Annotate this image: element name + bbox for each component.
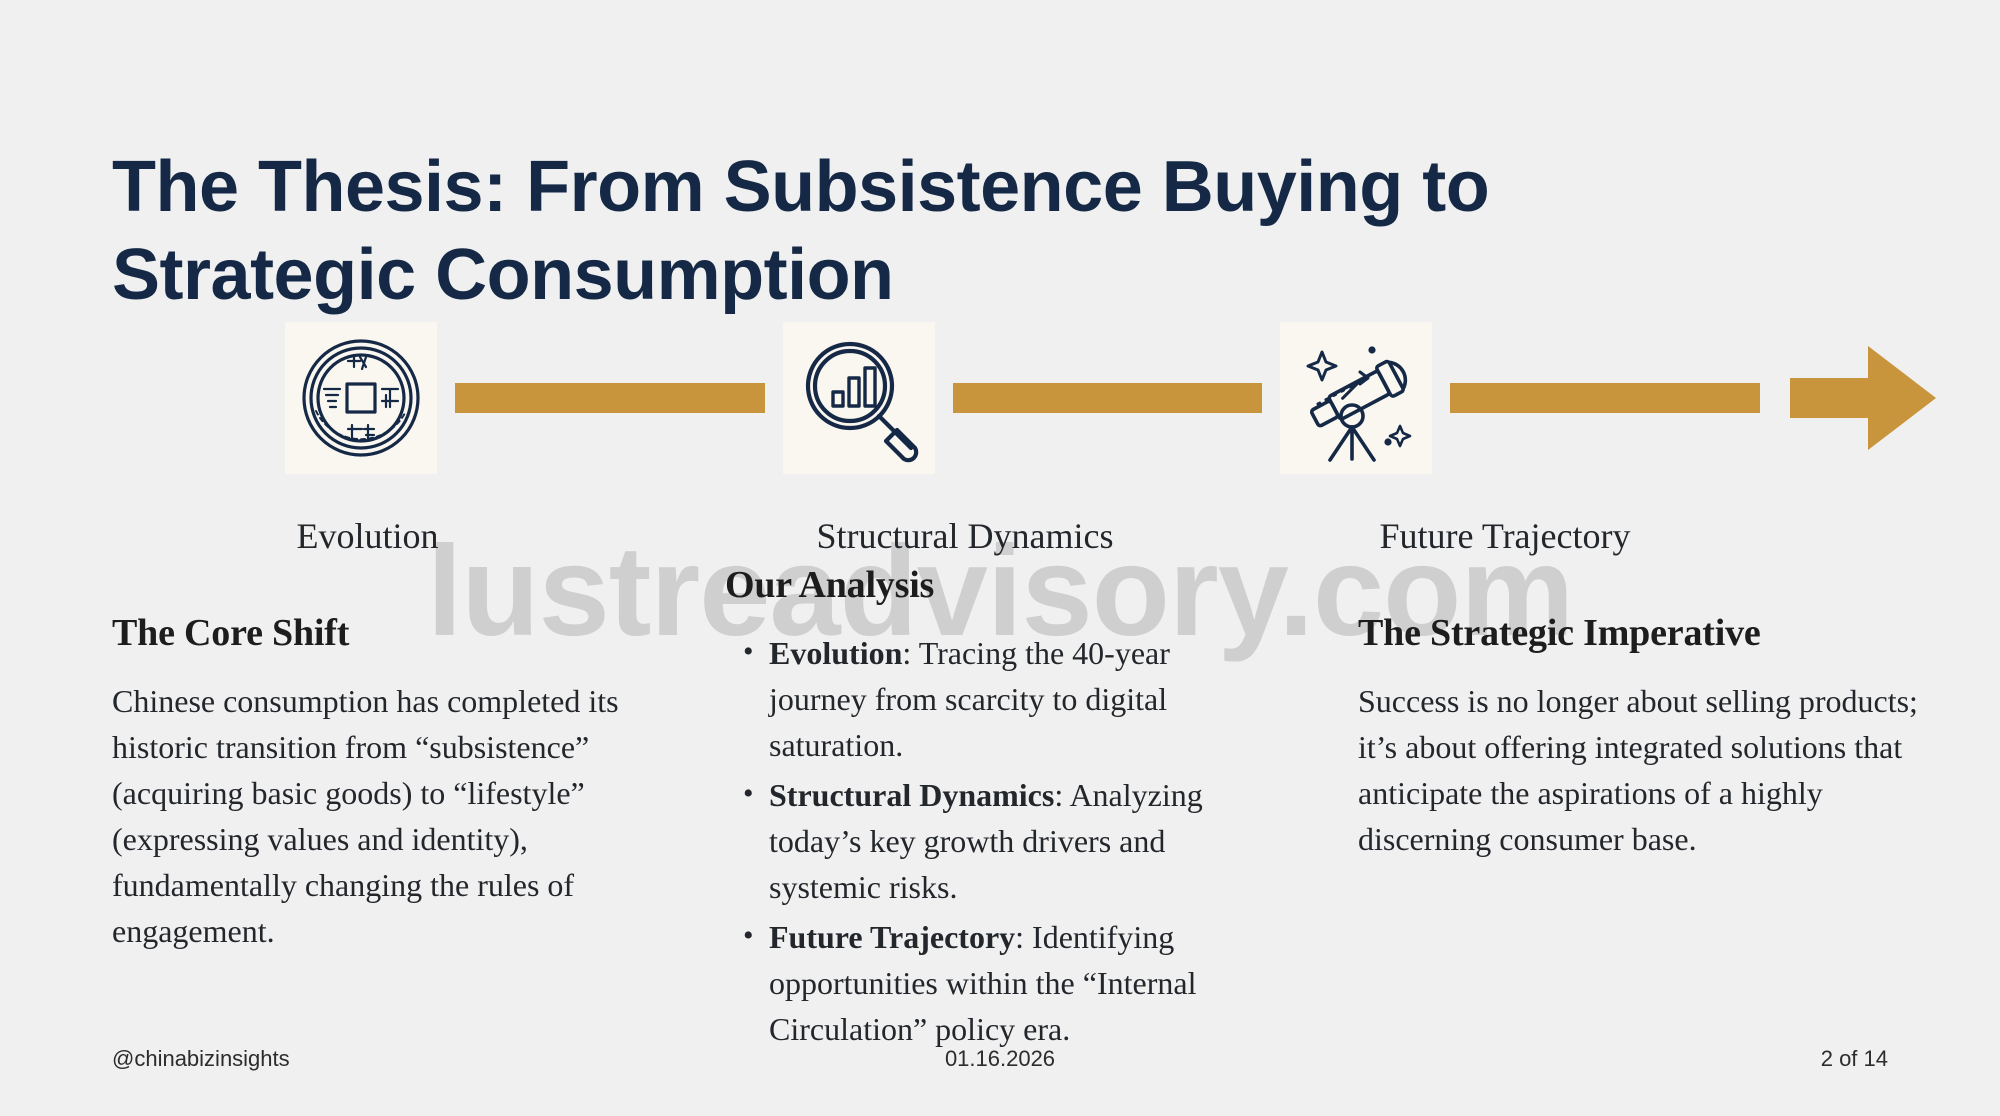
step-label-structural-dynamics: Structural Dynamics <box>735 515 1195 557</box>
slide-canvas: lustreadvisory.com The Thesis: From Subs… <box>0 0 2000 1116</box>
column-body-core-shift: Chinese consumption has completed its hi… <box>112 678 657 954</box>
connector-bar-2 <box>953 383 1263 413</box>
connector-bar-1 <box>455 383 765 413</box>
slide-footer: @chinabizinsights 01.16.2026 2 of 14 <box>0 1046 2000 1080</box>
list-item: Future Trajectory: Identifying opportuni… <box>769 914 1270 1052</box>
analysis-bullet-list: Evolution: Tracing the 40-year journey f… <box>725 630 1270 1053</box>
step-label-evolution: Evolution <box>0 515 735 557</box>
column-body-strategic-imperative: Success is no longer about selling produ… <box>1358 678 1928 862</box>
step-label-future-trajectory: Future Trajectory <box>1195 515 1815 557</box>
process-flow <box>0 318 2000 478</box>
telescope-icon <box>1280 322 1432 474</box>
bullet-lead: Evolution <box>769 635 902 671</box>
column-core-shift: The Core Shift Chinese consumption has c… <box>112 612 657 954</box>
list-item: Structural Dynamics: Analyzing today’s k… <box>769 772 1270 910</box>
column-heading-core-shift: The Core Shift <box>112 612 657 656</box>
arrow-right-icon <box>1790 338 1940 458</box>
column-strategic-imperative: The Strategic Imperative Success is no l… <box>1358 612 1928 862</box>
page-title: The Thesis: From Subsistence Buying to S… <box>112 144 1812 320</box>
footer-date: 01.16.2026 <box>0 1046 2000 1072</box>
footer-page-number: 2 of 14 <box>1821 1046 1888 1072</box>
list-item: Evolution: Tracing the 40-year journey f… <box>769 630 1270 768</box>
bullet-lead: Structural Dynamics <box>769 777 1054 813</box>
column-our-analysis: Our Analysis Evolution: Tracing the 40-y… <box>725 564 1270 1056</box>
magnifier-bar-chart-icon <box>783 322 935 474</box>
connector-bar-3 <box>1450 383 1760 413</box>
column-heading-strategic-imperative: The Strategic Imperative <box>1358 612 1928 656</box>
process-step-labels: Evolution Structural Dynamics Future Tra… <box>0 515 2000 557</box>
chinese-coin-icon <box>285 322 437 474</box>
column-heading-our-analysis: Our Analysis <box>725 564 1270 608</box>
bullet-lead: Future Trajectory <box>769 919 1015 955</box>
